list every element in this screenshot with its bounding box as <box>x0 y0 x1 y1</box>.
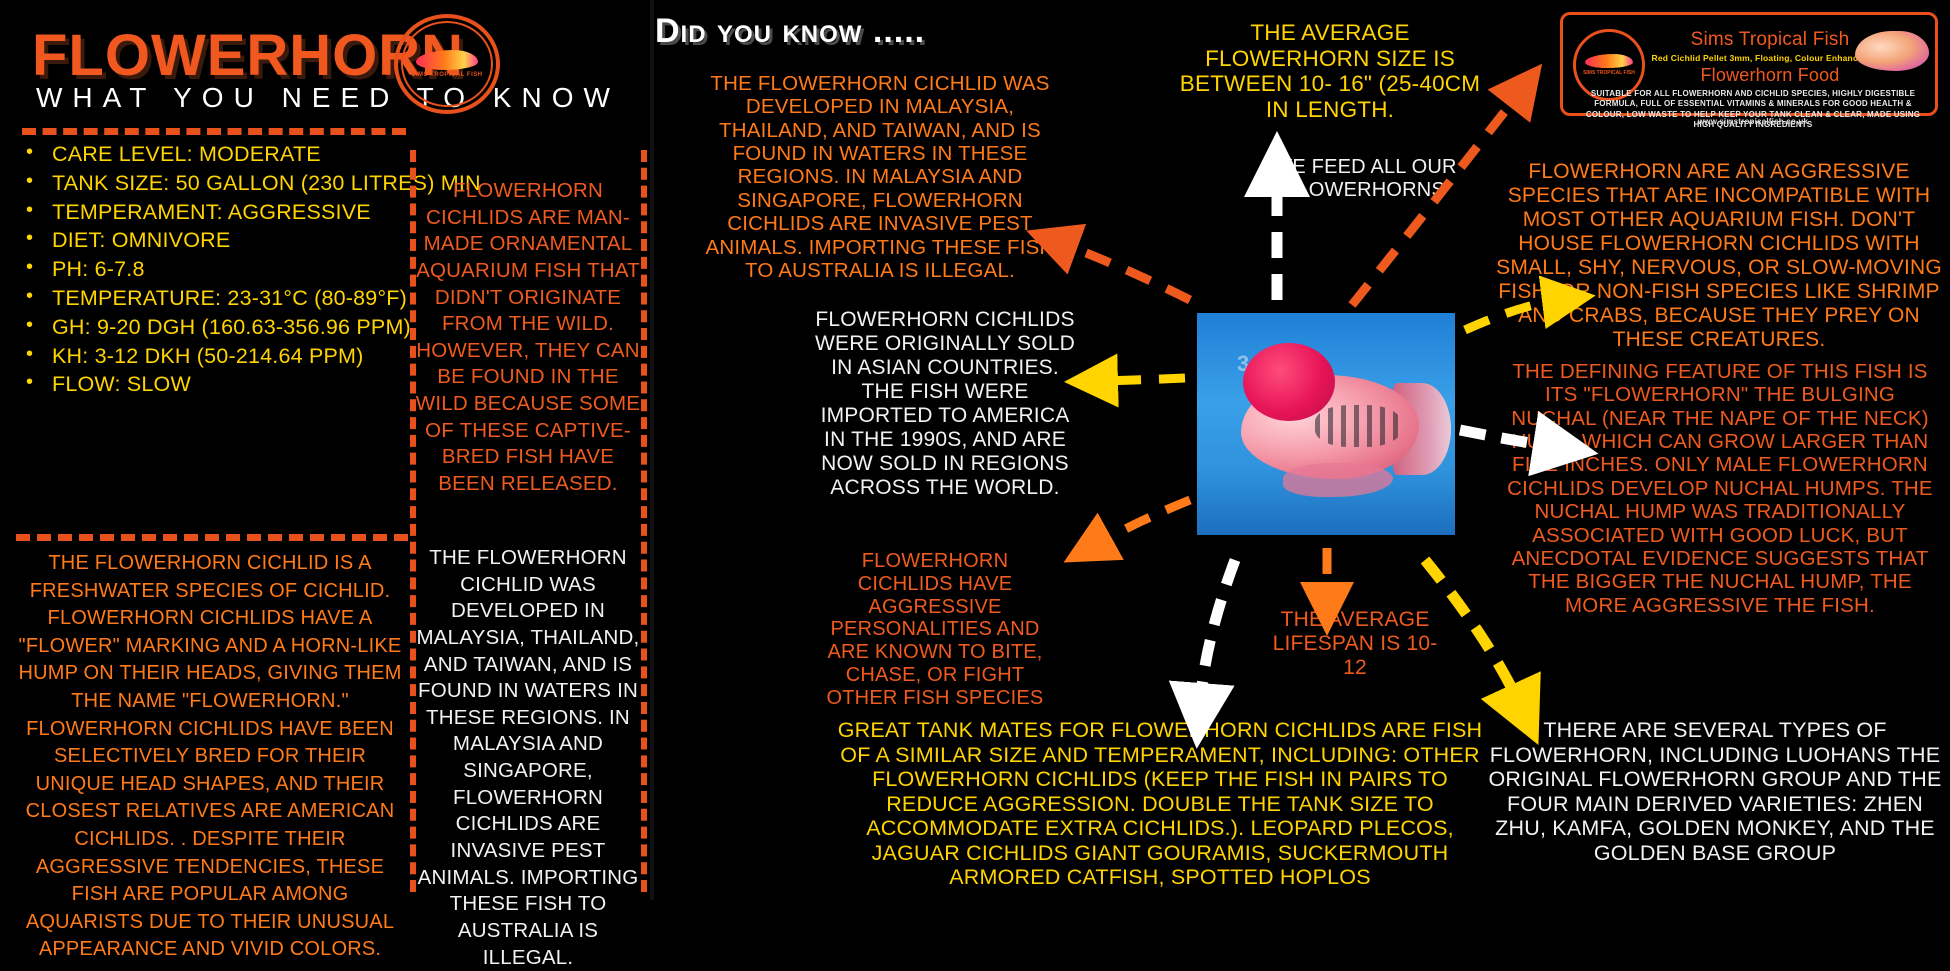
average-size-note: THE AVERAGE FLOWERHORN SIZE IS BETWEEN 1… <box>1170 20 1490 123</box>
aggression-paragraph: FLOWERHORN ARE AN AGGRESSIVE SPECIES THA… <box>1495 160 1943 352</box>
logo-inner-ring: SIMS TROPICAL FISH <box>401 21 493 107</box>
fish-fin <box>1283 463 1393 497</box>
fish-spots <box>1315 405 1401 447</box>
spec-item-temperature: TEMPERATURE: 23-31°C (80-89°F) <box>22 284 402 313</box>
personality-paragraph: FLOWERHORN CICHLIDS HAVE AGGRESSIVE PERS… <box>815 550 1055 710</box>
product-url[interactable]: www.simstropicalfish.co.uk <box>1581 117 1925 126</box>
origin-paragraph: THE FLOWERHORN CICHLID WAS DEVELOPED IN … <box>700 72 1060 282</box>
we-feed-note: WE FEED ALL OUR FLOWERHORNS <box>1270 156 1460 202</box>
column-divider <box>650 0 654 900</box>
man-made-paragraph: FLOWERHORN CICHLIDS ARE MAN-MADE ORNAMEN… <box>414 178 642 498</box>
flowerhorn-photo: 3 <box>1197 313 1455 535</box>
product-advert-box[interactable]: SIMS TROPICAL FISH Sims Tropical Fish Re… <box>1560 12 1938 116</box>
divider-top-left <box>22 128 406 135</box>
development-paragraph: THE FLOWERHORN CICHLID WAS DEVELOPED IN … <box>414 545 642 971</box>
fish-nuchal-hump <box>1243 343 1335 421</box>
defining-feature-paragraph: THE DEFINING FEATURE OF THIS FISH IS ITS… <box>1500 360 1940 617</box>
tank-mates-paragraph: GREAT TANK MATES FOR FLOWERHORN CICHLIDS… <box>830 718 1490 890</box>
sold-history-paragraph: FLOWERHORN CICHLIDS WERE ORIGINALLY SOLD… <box>815 308 1075 500</box>
product-logo-caption: SIMS TROPICAL FISH <box>1583 70 1635 76</box>
fish-icon <box>416 50 478 70</box>
care-spec-list: CARE LEVEL: MODERATE TANK SIZE: 50 GALLO… <box>22 140 402 399</box>
product-fish-photo <box>1855 31 1929 71</box>
spec-item-ph: PH: 6-7.8 <box>22 255 402 284</box>
spec-item-tank-size: TANK SIZE: 50 GALLON (230 LITRES) MIN <box>22 169 402 198</box>
intro-paragraph: THE FLOWERHORN CICHLID IS A FRESHWATER S… <box>14 550 406 964</box>
arrow-down-left-orange <box>1095 500 1190 545</box>
types-paragraph: THERE ARE SEVERAL TYPES OF FLOWERHORN, I… <box>1485 718 1945 865</box>
arrow-down-white <box>1200 560 1235 705</box>
spec-item-diet: DIET: OMNIVORE <box>22 226 402 255</box>
product-name: Flowerhorn Food <box>1655 65 1885 86</box>
sims-tropical-fish-logo: SIMS TROPICAL FISH <box>394 14 500 114</box>
spec-item-care-level: CARE LEVEL: MODERATE <box>22 140 402 169</box>
spec-item-temperament: TEMPERAMENT: AGGRESSIVE <box>22 198 402 227</box>
page-subtitle: WHAT YOU NEED TO KNOW <box>36 82 620 114</box>
arrow-left-yellow <box>1100 378 1185 381</box>
infographic-page: FLOWERHORN WHAT YOU NEED TO KNOW SIMS TR… <box>0 0 1950 900</box>
product-brand: Sims Tropical Fish <box>1655 29 1885 51</box>
spec-item-gh: GH: 9-20 DGH (160.63-356.96 PPM) <box>22 313 402 342</box>
spec-item-kh: KH: 3-12 DKH (50-214.64 PPM) <box>22 342 402 371</box>
divider-mid-left <box>16 534 408 541</box>
did-you-know-heading: Did you know ..... <box>655 12 925 51</box>
lifespan-note: THE AVERAGE LIFESPAN IS 10-12 <box>1265 608 1445 680</box>
spec-item-flow: FLOW: SLOW <box>22 370 402 399</box>
logo-caption: SIMS TROPICAL FISH <box>411 72 482 78</box>
product-fish-icon <box>1585 54 1633 68</box>
arrow-left-deep-orange <box>1060 243 1190 300</box>
